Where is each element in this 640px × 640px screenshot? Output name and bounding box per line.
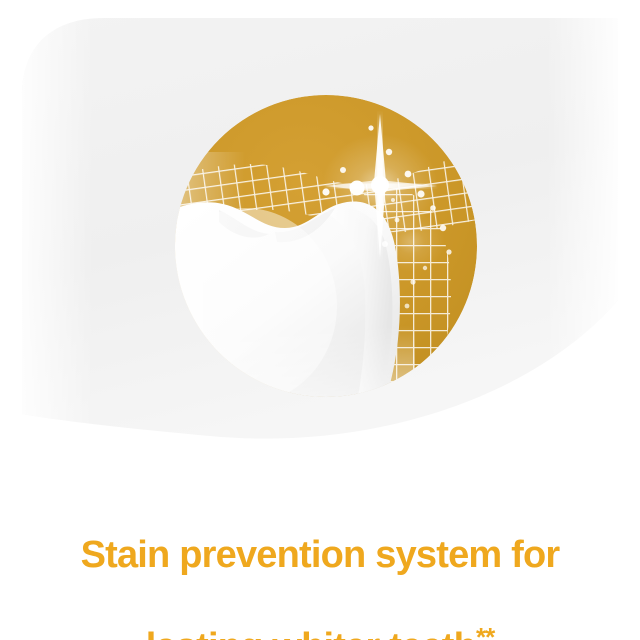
- headline-line-1: Stain prevention system for: [0, 535, 640, 576]
- headline-line-2: lasting whiter teeth**: [0, 617, 640, 640]
- caption-block: Stain prevention system for lasting whit…: [0, 494, 640, 640]
- product-benefit-panel: Stain prevention system for lasting whit…: [0, 0, 640, 640]
- headline-footnote-mark: **: [476, 622, 494, 640]
- illustration-clipped-group: [175, 95, 477, 400]
- illustration-svg: [175, 92, 477, 400]
- tooth-protection-illustration: [175, 92, 477, 400]
- benefit-headline: Stain prevention system for lasting whit…: [0, 494, 640, 640]
- headline-line-2-text: lasting whiter teeth: [146, 626, 476, 640]
